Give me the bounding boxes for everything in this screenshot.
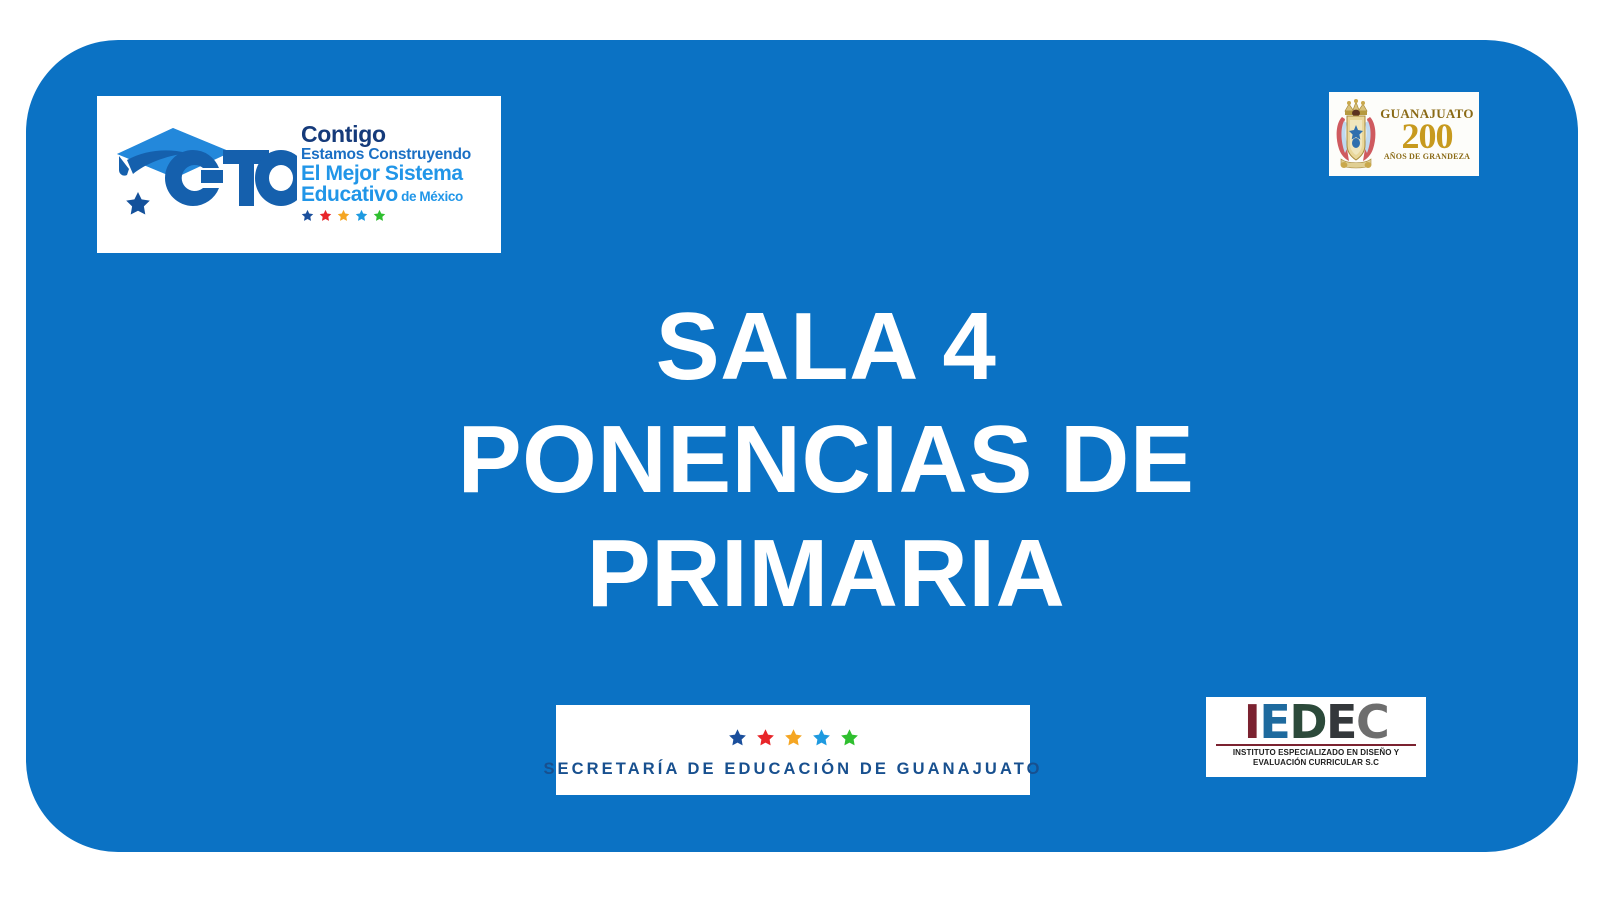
secretaria-educacion-card: SECRETARÍA DE EDUCACIÓN DE GUANAJUATO — [556, 705, 1030, 795]
star-icon-5 — [373, 209, 386, 226]
guanajuato-200-logo-card: GUANAJUATO 200 AÑOS DE GRANDEZA — [1329, 92, 1479, 176]
star-icon-3 — [337, 209, 350, 226]
star-icon-4 — [812, 728, 831, 751]
coat-of-arms-icon — [1333, 97, 1379, 171]
gto-logo-card: Contigo Estamos Construyendo El Mejor Si… — [97, 96, 501, 253]
star-icon-2 — [756, 728, 775, 751]
iedec-letter-d: D — [1289, 701, 1326, 743]
gto-tagline-line-4-main: Educativo — [301, 183, 398, 206]
star-icon-3 — [784, 728, 803, 751]
iedec-letter-i: I — [1244, 701, 1260, 743]
slide-canvas: SALA 4 PONENCIAS DE PRIMARIA — [0, 0, 1600, 900]
iedec-divider — [1216, 744, 1416, 746]
star-icon-1 — [301, 209, 314, 226]
iedec-wordmark: I E D E C — [1244, 701, 1388, 743]
secretaria-star-row — [728, 728, 859, 751]
gto-tagline-line-1: Contigo — [301, 123, 495, 146]
gto-tagline-line-3: El Mejor Sistema — [301, 163, 495, 184]
gto-tagline-line-2: Estamos Construyendo — [301, 147, 495, 163]
iedec-letter-c: C — [1356, 701, 1388, 743]
guanajuato-200-number: 200 — [1379, 120, 1475, 153]
gto-tagline-line-4-suffix: de México — [398, 189, 463, 204]
iedec-subtitle-line-2: EVALUACIÓN CURRICULAR S.C — [1253, 758, 1379, 768]
iedec-logo-card: I E D E C INSTITUTO ESPECIALIZADO EN DIS… — [1206, 697, 1426, 777]
iedec-letter-e1: E — [1259, 701, 1289, 743]
page-title: SALA 4 PONENCIAS DE PRIMARIA — [326, 290, 1326, 630]
guanajuato-200-text-block: GUANAJUATO 200 AÑOS DE GRANDEZA — [1379, 107, 1475, 161]
gto-tagline-block: Contigo Estamos Construyendo El Mejor Si… — [297, 123, 495, 225]
star-icon-4 — [355, 209, 368, 226]
star-icon-1 — [728, 728, 747, 751]
guanajuato-200-subtitle: AÑOS DE GRANDEZA — [1379, 153, 1475, 161]
secretaria-label: SECRETARÍA DE EDUCACIÓN DE GUANAJUATO — [543, 760, 1042, 779]
star-icon-5 — [840, 728, 859, 751]
gto-graduation-cap-gto-wordmark-icon — [105, 120, 297, 230]
gto-star-row — [301, 209, 495, 226]
iedec-subtitle-line-1: INSTITUTO ESPECIALIZADO EN DISEÑO Y — [1233, 748, 1399, 758]
star-icon-2 — [319, 209, 332, 226]
gto-tagline-line-4: Educativo de México — [301, 184, 495, 205]
iedec-letter-e2: E — [1326, 701, 1356, 743]
